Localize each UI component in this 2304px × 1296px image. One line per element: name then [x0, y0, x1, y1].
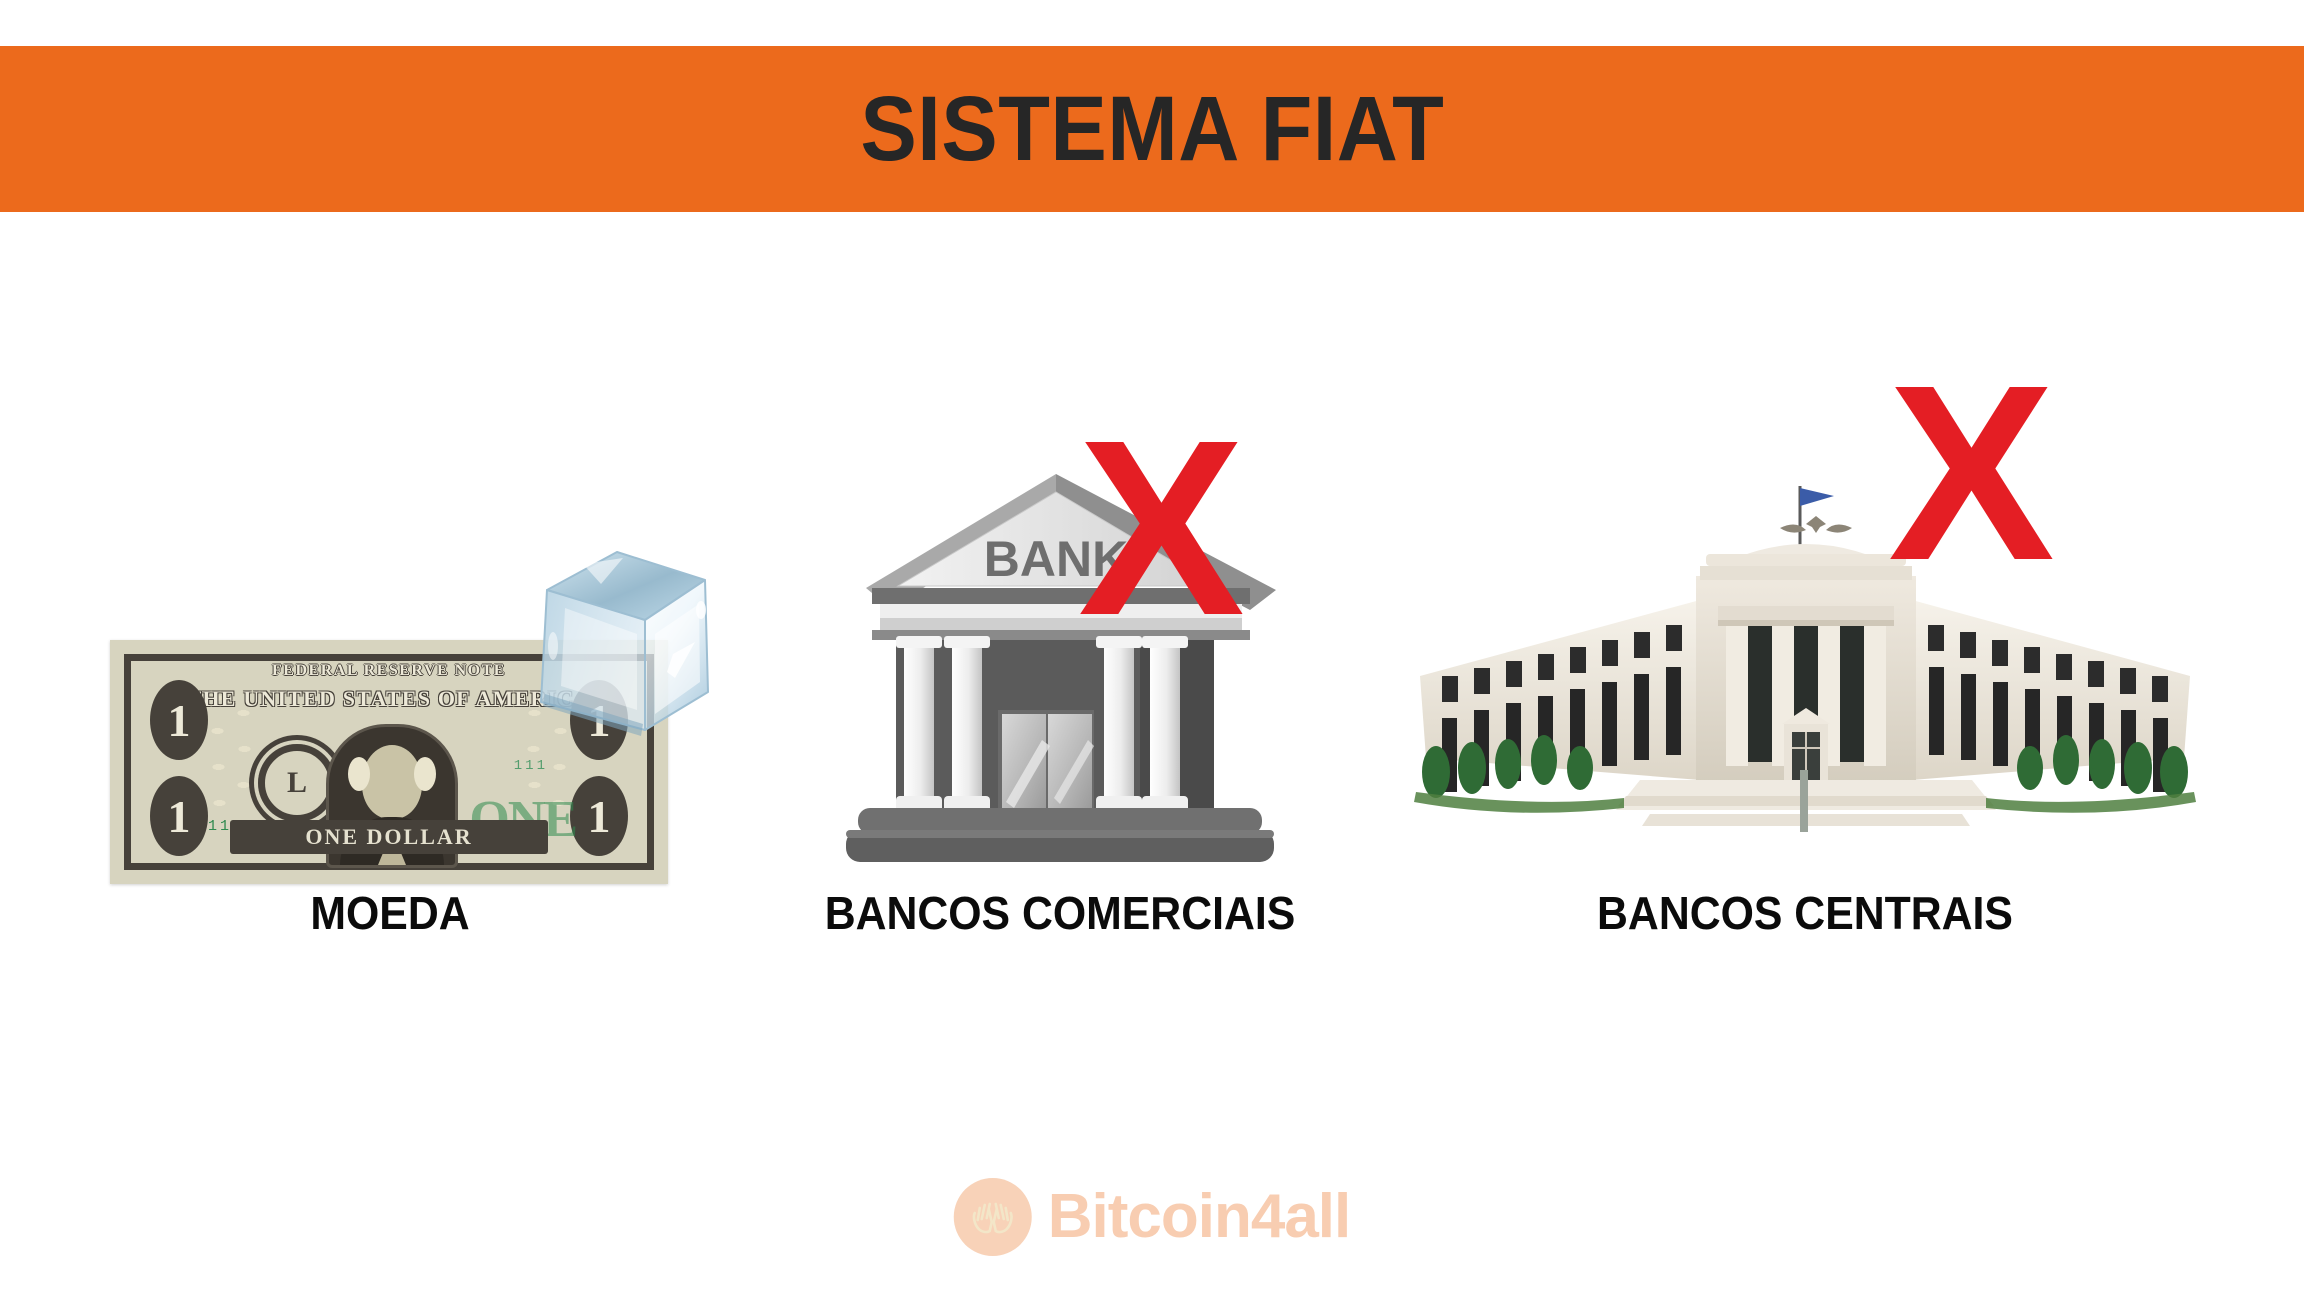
item-moeda: FEDERAL RESERVE NOTE THE UNITED STATES O… [40, 430, 740, 970]
items-row: FEDERAL RESERVE NOTE THE UNITED STATES O… [0, 430, 2304, 970]
moeda-art: FEDERAL RESERVE NOTE THE UNITED STATES O… [40, 430, 740, 880]
bill-bottom-band: ONE DOLLAR [230, 820, 548, 854]
bill-denomination-bottom-right: 1 [570, 776, 628, 856]
open-hands-icon [964, 1188, 1022, 1246]
ice-cube-icon [505, 542, 720, 747]
page-title: SISTEMA FIAT [860, 83, 1444, 175]
portrait-head [362, 745, 422, 819]
bancos-comerciais-art: BANK [800, 430, 1320, 880]
caption-bancos-centrais: BANCOS CENTRAIS [1428, 890, 2181, 936]
bill-reserve-seal: L [258, 744, 336, 822]
header-band: SISTEMA FIAT [0, 46, 2304, 212]
logo-wordmark: Bitcoin4all [1048, 1186, 1351, 1248]
item-bancos-centrais: X BANCOS CENTRAIS [1400, 430, 2210, 970]
eagle-emblem-icon [1780, 516, 1852, 533]
bill-denomination-top-left: 1 [150, 680, 208, 760]
bill-one-dollar-text: ONE DOLLAR [305, 824, 472, 850]
caption-moeda: MOEDA [65, 890, 716, 936]
bill-denomination-bottom-left: 1 [150, 776, 208, 856]
bancos-centrais-art: X [1400, 430, 2210, 880]
red-x-icon-central-banks: X [1888, 375, 2055, 570]
red-x-icon-commercial-banks: X [1078, 430, 1245, 625]
item-bancos-comerciais: BANK [800, 430, 1320, 970]
portrait-hair-left [348, 757, 370, 791]
logo-badge [954, 1178, 1032, 1256]
caption-bancos-comerciais: BANCOS COMERCIAIS [818, 890, 1302, 936]
federal-reserve-building-icon [1400, 480, 2210, 860]
bitcoin4all-logo: Bitcoin4all [954, 1178, 1351, 1256]
portrait-hair-right [414, 757, 436, 791]
bill-serial-number-right: 111 [514, 758, 548, 774]
